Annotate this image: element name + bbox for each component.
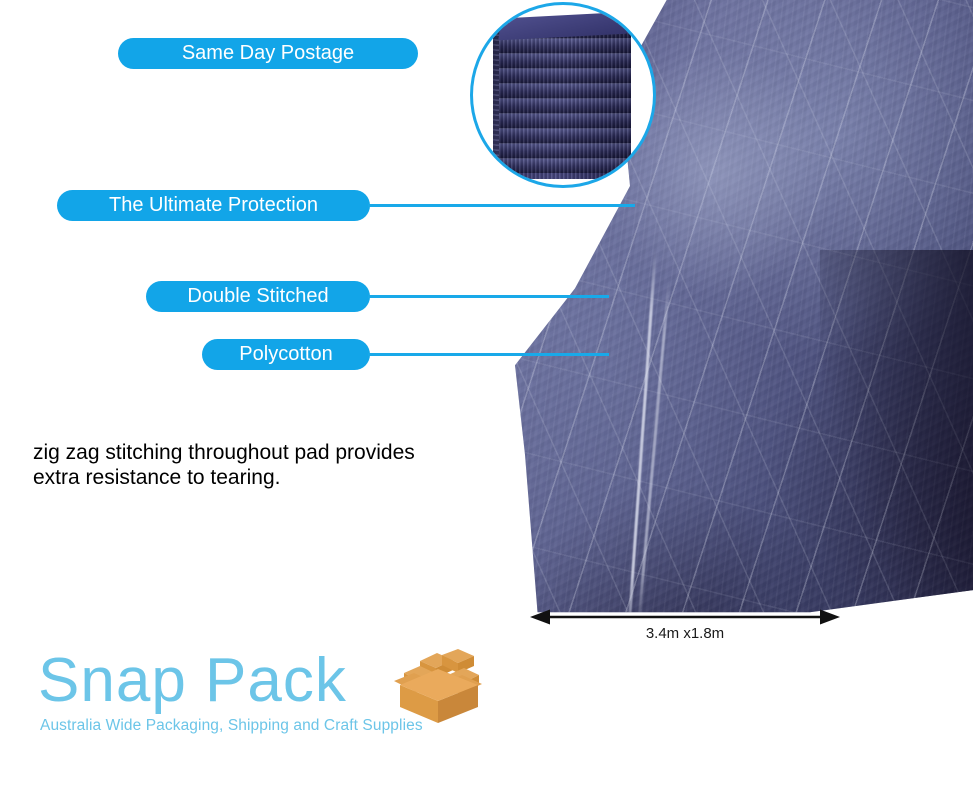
dimension-label: 3.4m x1.8m [530,625,840,642]
connector-line-double-stitched [368,295,609,298]
connector-line-polycotton [368,353,609,356]
connector-line-ultimate-protection [368,204,635,207]
blanket-stack-image [485,13,647,185]
logo-wordmark: Snap Pack [38,645,347,717]
logo-tagline: Australia Wide Packaging, Shipping and C… [40,717,423,735]
blanket-shadow [820,250,973,634]
dimension-annotation: 3.4m x1.8m [530,606,840,654]
blanket-stack-body [499,23,631,179]
feature-badge-same-day-postage[interactable]: Same Day Postage [118,38,418,69]
product-image-canvas: Same Day Postage The Ultimate Protection… [0,0,973,786]
feature-badge-double-stitched[interactable]: Double Stitched [146,281,370,312]
product-description: zig zag stitching throughout pad provide… [33,440,493,490]
blanket-stack-inset [470,2,656,188]
description-line-1: zig zag stitching throughout pad provide… [33,440,493,465]
feature-badge-ultimate-protection[interactable]: The Ultimate Protection [57,190,370,221]
description-line-2: extra resistance to tearing. [33,465,493,490]
feature-badge-polycotton[interactable]: Polycotton [202,339,370,370]
brand-logo[interactable]: Snap Pack [38,645,458,745]
open-box-icon [390,647,486,725]
